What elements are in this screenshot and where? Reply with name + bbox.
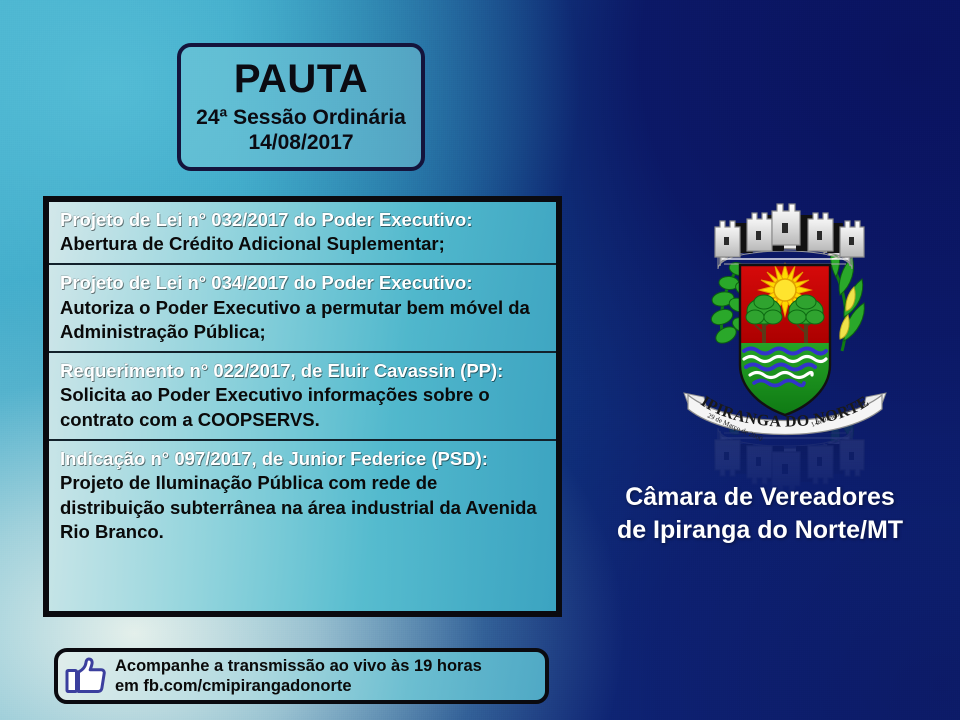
organisation-title: Câmara de Vereadores de Ipiranga do Nort…	[560, 481, 960, 546]
agenda-item: Projeto de Lei n° 034/2017 do Poder Exec…	[49, 263, 556, 351]
agenda-item: Indicação n° 097/2017, de Junior Federic…	[49, 439, 556, 551]
org-title-line2: de Ipiranga do Norte/MT	[560, 514, 960, 547]
agenda-item: Projeto de Lei n° 032/2017 do Poder Exec…	[49, 202, 556, 263]
facebook-thumbs-up-icon	[65, 657, 107, 695]
org-title-line1: Câmara de Vereadores	[560, 481, 960, 514]
facebook-banner-text: Acompanhe a transmissão ao vivo às 19 ho…	[115, 656, 482, 696]
agenda-list-box: Projeto de Lei n° 032/2017 do Poder Exec…	[43, 196, 562, 617]
agenda-item-body: Projeto de Iluminação Pública com rede d…	[60, 471, 547, 544]
pauta-date: 14/08/2017	[248, 131, 353, 156]
agenda-item-heading: Requerimento n° 022/2017, de Eluir Cavas…	[60, 359, 547, 383]
agenda-item-body: Autoriza o Poder Executivo a permutar be…	[60, 296, 547, 345]
facebook-live-banner[interactable]: Acompanhe a transmissão ao vivo às 19 ho…	[54, 648, 549, 704]
agenda-item-heading: Projeto de Lei n° 034/2017 do Poder Exec…	[60, 271, 547, 295]
facebook-banner-line1: Acompanhe a transmissão ao vivo às 19 ho…	[115, 656, 482, 676]
slide-canvas: PAUTA 24ª Sessão Ordinária 14/08/2017 Pr…	[0, 0, 960, 720]
agenda-item-heading: Projeto de Lei n° 032/2017 do Poder Exec…	[60, 208, 547, 232]
pauta-title: PAUTA	[234, 59, 368, 99]
pauta-session: 24ª Sessão Ordinária	[196, 106, 406, 131]
coat-of-arms-ipiranga-do-norte: IPIRANGA DO NORTE 29 de Março de 2000 1 …	[660, 193, 910, 465]
agenda-item-body: Solicita ao Poder Executivo informações …	[60, 383, 547, 432]
pauta-header-card: PAUTA 24ª Sessão Ordinária 14/08/2017	[177, 43, 425, 171]
agenda-item: Requerimento n° 022/2017, de Eluir Cavas…	[49, 351, 556, 439]
facebook-banner-line2: em fb.com/cmipirangadonorte	[115, 676, 482, 696]
agenda-item-heading: Indicação n° 097/2017, de Junior Federic…	[60, 447, 547, 471]
agenda-item-body: Abertura de Crédito Adicional Suplementa…	[60, 232, 547, 256]
